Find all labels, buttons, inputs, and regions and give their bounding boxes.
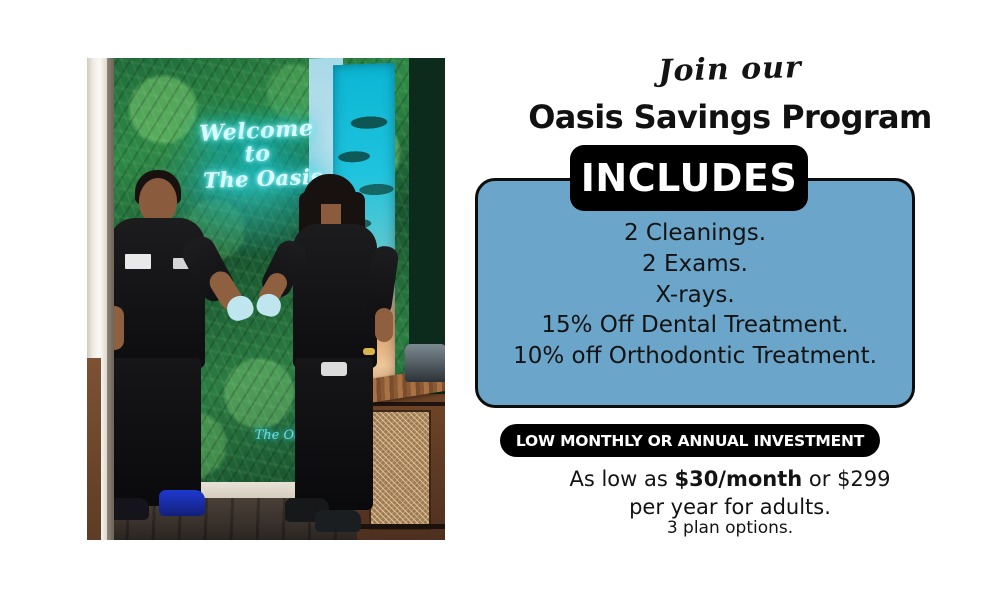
person-right-watch	[363, 348, 375, 355]
person-left-legs	[113, 358, 201, 506]
investment-badge: LOW MONTHLY OR ANNUAL INVESTMENT	[500, 424, 880, 457]
person-left-logo	[125, 254, 151, 269]
photo-scene: Welcome to The Oasis The Oasis	[87, 58, 445, 540]
benefits-list: 2 Cleanings. 2 Exams. X-rays. 15% Off De…	[475, 218, 915, 372]
flyer-canvas: Welcome to The Oasis The Oasis	[0, 0, 1000, 600]
benefit-item: 15% Off Dental Treatment.	[475, 310, 915, 341]
neon-line-1: Welcome to	[196, 117, 318, 169]
join-our-script: Join our	[460, 45, 1000, 94]
clinic-team-photo: Welcome to The Oasis The Oasis	[87, 58, 445, 540]
benefit-item: 10% off Orthodontic Treatment.	[475, 341, 915, 372]
page-title: Oasis Savings Program	[460, 98, 1000, 136]
person-right-shoe-right	[315, 510, 361, 532]
price-highlight: $30/month	[674, 467, 802, 491]
person-right-drawstring	[321, 362, 347, 376]
benefit-item: 2 Exams.	[475, 249, 915, 280]
benefit-item: X-rays.	[475, 280, 915, 311]
door-frame-wood	[87, 358, 101, 540]
person-right-legs	[295, 358, 373, 510]
price-suffix: or $299	[802, 467, 890, 491]
person-left-shoe-right	[159, 490, 205, 516]
scanner-device	[405, 344, 445, 382]
price-text: As low as $30/month or $299 per year for…	[460, 466, 1000, 521]
neon-sign: Welcome to The Oasis	[197, 120, 317, 208]
counter-rail-bottom	[357, 524, 445, 529]
cane-panel	[369, 410, 431, 530]
benefit-item: 2 Cleanings.	[475, 218, 915, 249]
offer-panel: Join our Oasis Savings Program INCLUDES …	[460, 0, 1000, 600]
person-right-hand-2	[375, 308, 393, 342]
person-left-shoe-left	[109, 498, 149, 520]
plan-options-text: 3 plan options.	[460, 518, 1000, 538]
includes-badge: INCLUDES	[570, 145, 808, 211]
price-line-1: As low as $30/month or $299	[460, 466, 1000, 494]
price-prefix: As low as	[569, 467, 674, 491]
person-right-torso	[293, 224, 377, 368]
door-frame-shadow	[107, 58, 114, 540]
